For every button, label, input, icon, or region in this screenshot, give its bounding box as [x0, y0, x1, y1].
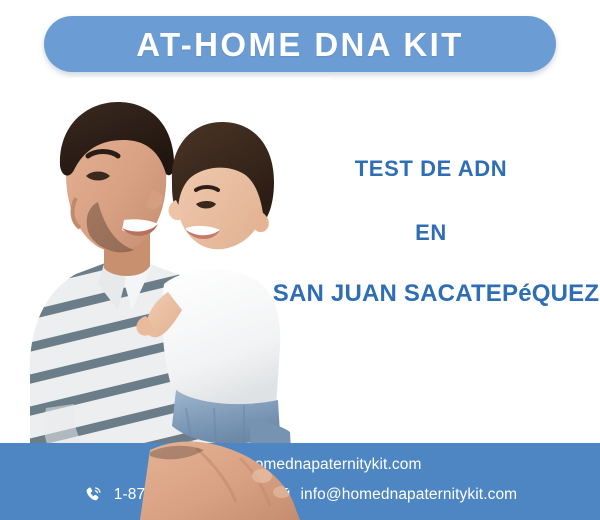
phone-label: 1-877-219-4485: [114, 487, 226, 503]
footer-contact-bar: www.homednapaternitykit.com 1-877-219-44…: [0, 443, 600, 520]
contact-phone[interactable]: 1-877-219-4485: [83, 485, 226, 505]
poster-canvas: AT-HOME DNA KIT: [0, 0, 600, 520]
globe-icon: [179, 455, 198, 474]
subject-line-service: TEST DE ADN: [262, 158, 600, 180]
header-band: AT-HOME DNA KIT: [0, 0, 600, 88]
contact-website[interactable]: www.homednapaternitykit.com: [179, 455, 422, 474]
envelope-icon: [268, 487, 290, 504]
email-label: info@homednapaternitykit.com: [301, 487, 518, 503]
subject-text-block: TEST DE ADN EN SAN JUAN SACATEPéQUEZ: [262, 158, 600, 306]
title-pill: AT-HOME DNA KIT: [44, 16, 556, 72]
footer-website-row: www.homednapaternitykit.com: [0, 455, 600, 474]
subject-line-preposition: EN: [262, 222, 600, 244]
footer-phone-email-row: 1-877-219-4485 info@homednapaternitykit.…: [0, 485, 600, 505]
subject-line-location: SAN JUAN SACATEPéQUEZ: [272, 282, 600, 306]
website-label: www.homednapaternitykit.com: [209, 457, 422, 473]
contact-email[interactable]: info@homednapaternitykit.com: [268, 487, 518, 504]
phone-icon: [83, 485, 103, 505]
page-title: AT-HOME DNA KIT: [136, 28, 463, 61]
